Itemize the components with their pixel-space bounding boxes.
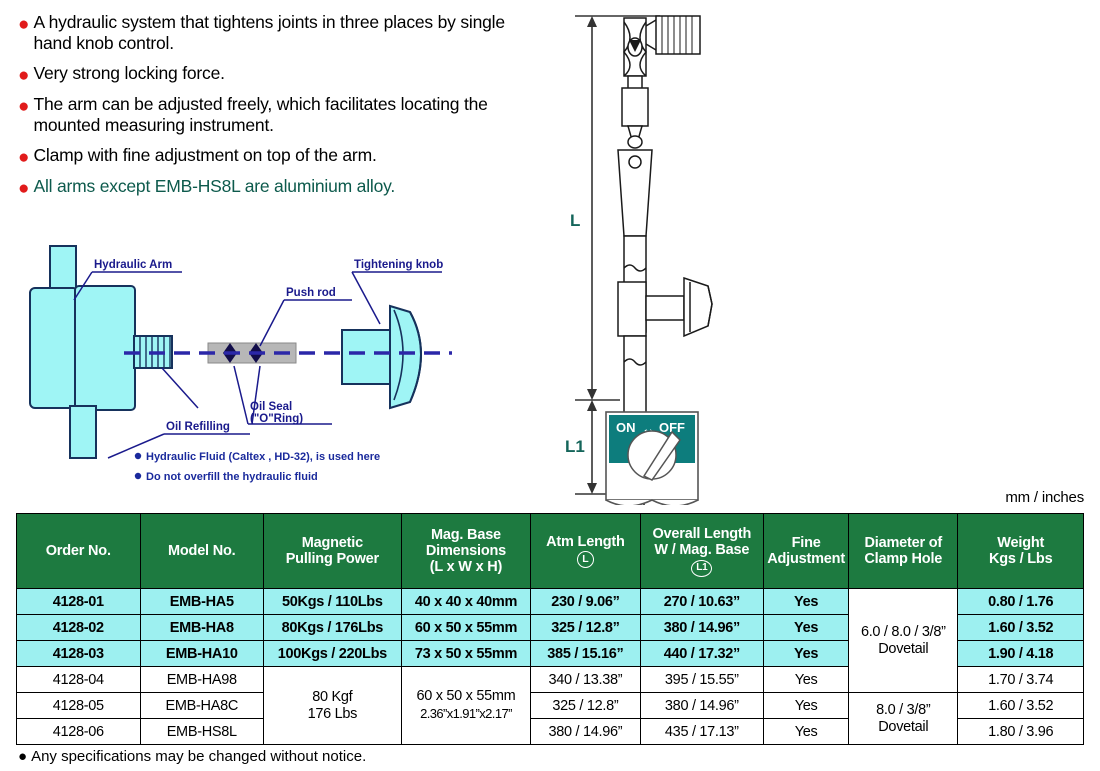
diagram-note: Hydraulic Fluid (Caltex , HD-32), is use… [146, 451, 380, 463]
cell-fine-adjustment: Yes [764, 615, 849, 641]
cell-atm-length: 325 / 12.8” [531, 615, 640, 641]
switch-label-on: ON [616, 420, 636, 435]
hydraulic-arm-upper [50, 246, 76, 294]
cell-model-no: EMB-HA8 [140, 615, 264, 641]
cell-model-no: EMB-HS8L [140, 719, 264, 745]
footer-note: ● Any specifications may be changed with… [18, 748, 366, 765]
cell-order-no: 4128-03 [17, 641, 141, 667]
cell-weight: 0.80 / 1.76 [958, 589, 1084, 615]
dimension-label-l: L [570, 211, 580, 230]
dimension-label-l1: L1 [565, 437, 585, 456]
cell-overall-length: 440 / 17.32” [640, 641, 764, 667]
column-lower [624, 336, 646, 422]
label-oil-refilling: Oil Refilling [166, 421, 230, 433]
tightening-knob-dome [390, 306, 421, 408]
cell-overall-length: 435 / 17.13” [640, 719, 764, 745]
cell-atm-length: 325 / 12.8” [531, 693, 640, 719]
cell-overall-length: 395 / 15.55” [640, 667, 764, 693]
label-oil-seal-line2: ("O"Ring) [250, 413, 303, 425]
cell-weight: 1.60 / 3.52 [958, 615, 1084, 641]
bullet-icon: ● [18, 66, 29, 85]
cell-order-no: 4128-02 [17, 615, 141, 641]
product-line-drawing: L L1 [560, 0, 820, 505]
cell-weight: 1.80 / 3.96 [958, 719, 1084, 745]
cell-model-no: EMB-HA5 [140, 589, 264, 615]
bullet-icon: ● [18, 15, 29, 34]
feature-item: ● The arm can be adjusted freely, which … [18, 94, 518, 136]
cell-fine-adjustment: Yes [764, 693, 849, 719]
circled-l1-icon: L1 [691, 560, 712, 577]
feature-item: ● Clamp with fine adjustment on top of t… [18, 145, 518, 167]
cell-clamp-hole-merged-bottom: 8.0 / 3/8” Dovetail [849, 693, 958, 745]
note-bullet-icon [135, 453, 141, 459]
cell-model-no: EMB-HA10 [140, 641, 264, 667]
hydraulic-arm-lower [70, 406, 96, 458]
table-row: 4128-05 EMB-HA8C 325 / 12.8” 380 / 14.96… [17, 693, 1084, 719]
header-magnetic-pulling-power: Magnetic Pulling Power [264, 514, 402, 589]
cell-model-no: EMB-HA98 [140, 667, 264, 693]
table-row: 4128-01 EMB-HA5 50Kgs / 110Lbs 40 x 40 x… [17, 589, 1084, 615]
base-v-groove [606, 500, 698, 505]
cell-order-no: 4128-05 [17, 693, 141, 719]
cell-model-no: EMB-HA8C [140, 693, 264, 719]
cell-order-no: 4128-06 [17, 719, 141, 745]
hydraulic-body-left [30, 288, 78, 408]
label-push-rod: Push rod [286, 287, 336, 299]
feature-text: Clamp with fine adjustment on top of the… [33, 145, 376, 166]
magnetic-base: ON ↔ OFF [606, 412, 698, 505]
cell-clamp-hole-merged-top: 6.0 / 8.0 / 3/8” Dovetail [849, 589, 958, 693]
cell-fine-adjustment: Yes [764, 667, 849, 693]
header-mag-base-dimensions: Mag. Base Dimensions (L x W x H) [401, 514, 531, 589]
feature-text: The arm can be adjusted freely, which fa… [33, 94, 518, 136]
footer-note-text: Any specifications may be changed withou… [31, 748, 366, 765]
specifications-table: Order No. Model No. Magnetic Pulling Pow… [16, 513, 1084, 745]
clamp-shaft [646, 296, 684, 320]
cell-base-dimensions: 73 x 50 x 55mm [401, 641, 531, 667]
cross-clamp-block [618, 282, 646, 336]
cell-fine-adjustment: Yes [764, 589, 849, 615]
cell-overall-length: 270 / 10.63” [640, 589, 764, 615]
header-order-no: Order No. [17, 514, 141, 589]
cell-order-no: 4128-01 [17, 589, 141, 615]
cell-atm-length: 230 / 9.06” [531, 589, 640, 615]
cell-base-dimensions: 60 x 50 x 55mm [401, 615, 531, 641]
diagram-note: Do not overfill the hydraulic fluid [146, 471, 318, 483]
knob-block [342, 330, 394, 384]
cell-order-no: 4128-04 [17, 667, 141, 693]
bullet-icon: ● [18, 148, 29, 167]
header-overall-length: Overall Length W / Mag. Base L1 [640, 514, 764, 589]
cell-atm-length: 340 / 13.38” [531, 667, 640, 693]
circled-l-icon: L [577, 551, 594, 568]
cell-weight: 1.60 / 3.52 [958, 693, 1084, 719]
cell-overall-length: 380 / 14.96” [640, 615, 764, 641]
label-oil-seal-line1: Oil Seal [250, 401, 292, 413]
feature-item: ● A hydraulic system that tightens joint… [18, 12, 518, 54]
hydraulic-body-right [75, 286, 135, 410]
header-weight: Weight Kgs / Lbs [958, 514, 1084, 589]
cell-overall-length: 380 / 14.96” [640, 693, 764, 719]
feature-text: All arms except EMB-HS8L are aluminium a… [33, 176, 395, 197]
feature-item: ● All arms except EMB-HS8L are aluminium… [18, 176, 518, 198]
cell-pulling-power: 100Kgs / 220Lbs [264, 641, 402, 667]
note-bullet-icon [135, 473, 141, 479]
hydraulic-diagram: Hydraulic Arm Push rod Tightening knob O… [12, 238, 532, 503]
coupling-block [622, 88, 648, 126]
table-header-row: Order No. Model No. Magnetic Pulling Pow… [17, 514, 1084, 589]
header-fine-adjustment: Fine Adjustment [764, 514, 849, 589]
cell-base-dimensions-merged: 60 x 50 x 55mm 2.36”x1.91”x2.17” [401, 667, 531, 745]
units-caption: mm / inches [1005, 489, 1084, 506]
bullet-icon: ● [18, 97, 29, 116]
label-hydraulic-arm: Hydraulic Arm [94, 259, 172, 271]
cell-pulling-power: 50Kgs / 110Lbs [264, 589, 402, 615]
bullet-icon: ● [18, 748, 27, 765]
cell-weight: 1.90 / 4.18 [958, 641, 1084, 667]
cell-fine-adjustment: Yes [764, 641, 849, 667]
feature-text: A hydraulic system that tightens joints … [33, 12, 518, 54]
feature-list: ● A hydraulic system that tightens joint… [18, 12, 518, 207]
cell-atm-length: 385 / 15.16” [531, 641, 640, 667]
cell-weight: 1.70 / 3.74 [958, 667, 1084, 693]
cell-base-dimensions: 40 x 40 x 40mm [401, 589, 531, 615]
header-diameter-clamp-hole: Diameter of Clamp Hole [849, 514, 958, 589]
cell-atm-length: 380 / 14.96” [531, 719, 640, 745]
label-tightening-knob: Tightening knob [354, 259, 443, 271]
cell-pulling-power-merged: 80 Kgf 176 Lbs [264, 667, 402, 745]
knurled-knob [656, 16, 700, 54]
cell-pulling-power: 80Kgs / 176Lbs [264, 615, 402, 641]
header-model-no: Model No. [140, 514, 264, 589]
header-atm-length: Atm Length L [531, 514, 640, 589]
feature-item: ● Very strong locking force. [18, 63, 518, 85]
cell-fine-adjustment: Yes [764, 719, 849, 745]
feature-text: Very strong locking force. [33, 63, 224, 84]
bullet-icon: ● [18, 179, 29, 198]
